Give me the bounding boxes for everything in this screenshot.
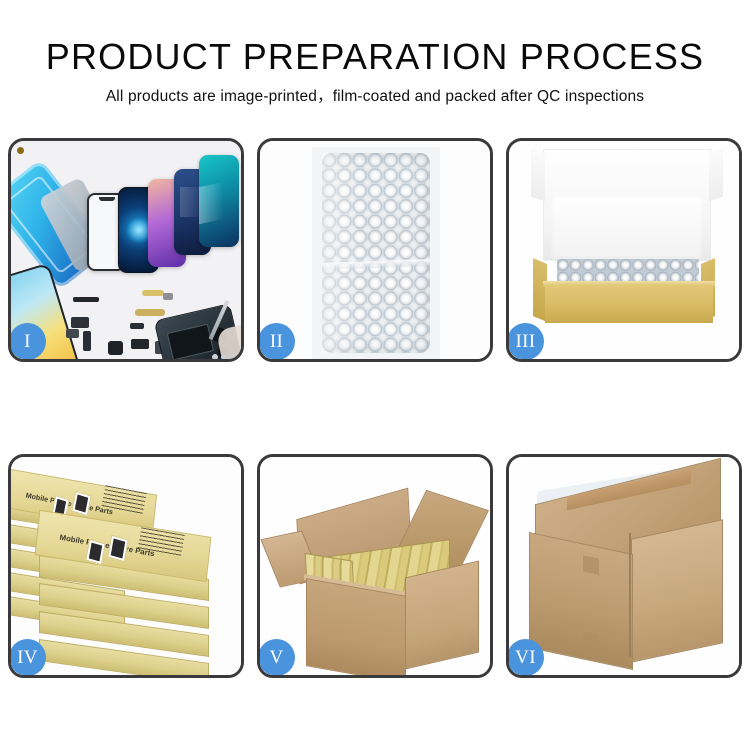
ribbon-cable-part-icon [83, 331, 91, 351]
step-2-illustration [260, 141, 490, 359]
page-subtitle: All products are image-printed，film-coat… [0, 84, 750, 106]
screws-icon [211, 353, 237, 359]
process-step-panel-6: VI [506, 454, 742, 678]
camera-module-part-icon [71, 317, 89, 328]
carton-side-face [631, 519, 723, 663]
button-flex-part-icon [142, 290, 164, 296]
small-flex-part-icon [130, 323, 144, 329]
step-badge-2: II [258, 323, 295, 360]
box-stack-icon: Mobile Phone Spare Parts Mobile Phone Sp… [11, 475, 241, 675]
page-title: PRODUCT PREPARATION PROCESS [0, 36, 750, 78]
step-badge-6: VI [507, 639, 544, 676]
gold-flex-part-icon [135, 309, 165, 316]
process-step-panel-1: I [8, 138, 244, 362]
process-step-panel-5: V [257, 454, 493, 678]
wrap-highlight [322, 153, 362, 353]
step-badge-5: V [258, 639, 295, 676]
box-front-face [545, 285, 713, 323]
carton-front-face [306, 578, 406, 675]
speaker-part-icon [131, 339, 149, 349]
step-5-illustration [260, 457, 490, 675]
carton-front-face [529, 532, 633, 670]
front-camera-part-icon [66, 329, 79, 338]
step-badge-4: IV [9, 639, 46, 676]
step-1-illustration [11, 141, 241, 359]
product-preparation-infographic: PRODUCT PREPARATION PROCESS All products… [0, 0, 750, 750]
process-step-panel-4: Mobile Phone Spare Parts Mobile Phone Sp… [8, 454, 244, 678]
foam-insert-icon [551, 195, 703, 259]
step-badge-3: III [507, 323, 544, 360]
carton-handle-notch [583, 555, 599, 574]
taptic-engine-part-icon [108, 341, 123, 355]
carton-side-face [405, 560, 479, 669]
step-4-illustration: Mobile Phone Spare Parts Mobile Phone Sp… [11, 457, 241, 675]
process-step-grid: I II III [8, 138, 742, 684]
phone-teal-icon [199, 155, 239, 247]
process-step-panel-3: III [506, 138, 742, 362]
step-3-illustration [509, 141, 739, 359]
step-badge-1: I [9, 323, 46, 360]
carton-vertical-edge [629, 533, 631, 657]
process-step-panel-2: II [257, 138, 493, 362]
flex-cable-part-icon [73, 297, 99, 302]
connector-part-icon [163, 293, 173, 300]
step-6-illustration [509, 457, 739, 675]
